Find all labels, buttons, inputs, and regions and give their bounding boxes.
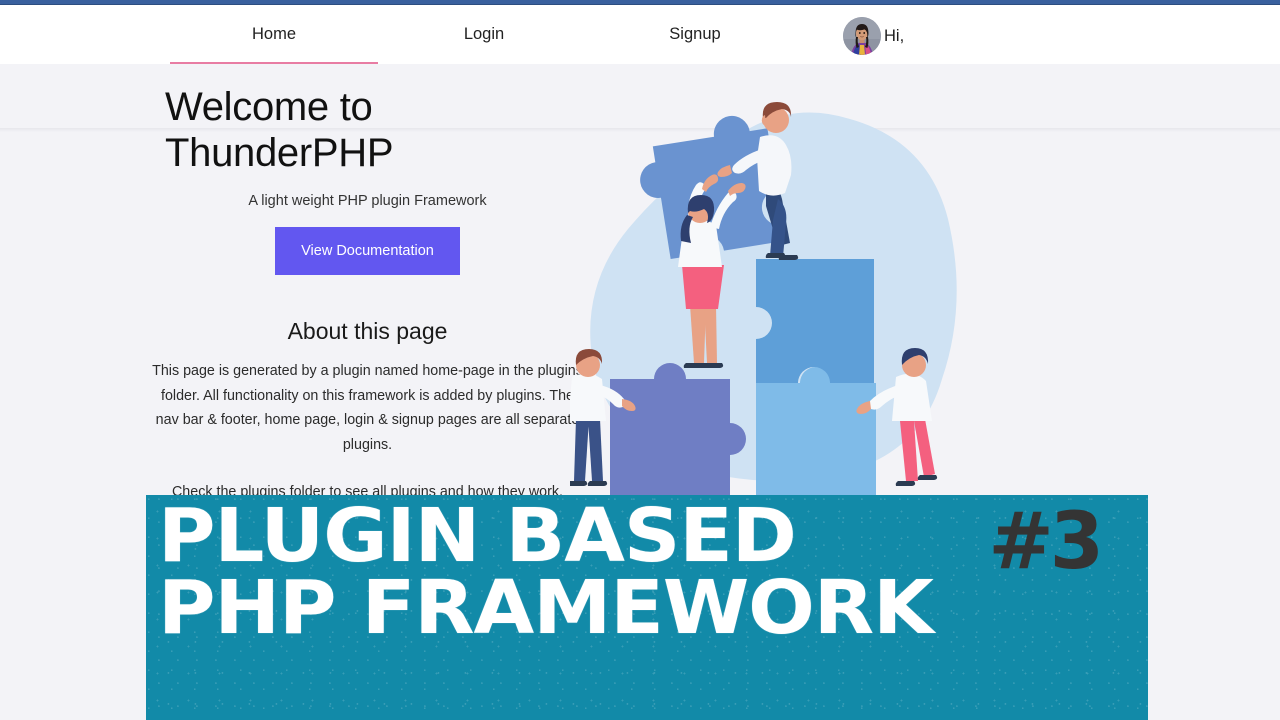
navbar: Home Login Signup	[0, 5, 1280, 64]
avatar	[843, 17, 881, 55]
about-heading: About this page	[145, 318, 590, 345]
hero-column: Welcome to ThunderPHP A light weight PHP…	[145, 84, 590, 545]
puzzle-illustration	[570, 89, 1020, 509]
banner-title: PLUGIN BASED PHP FRAMEWORK	[158, 501, 933, 645]
nav-item-login[interactable]: Login	[380, 5, 588, 64]
puzzle-piece-mid-blue	[756, 259, 874, 383]
nav-user-greeting: Hi,	[884, 27, 904, 46]
page-content: Welcome to ThunderPHP A light weight PHP…	[0, 64, 1280, 720]
nav-item-home-label: Home	[252, 25, 296, 44]
about-paragraph-1: This page is generated by a plugin named…	[145, 359, 590, 458]
episode-banner: PLUGIN BASED PHP FRAMEWORK #3	[146, 495, 1148, 720]
nav-item-signup-label: Signup	[669, 25, 720, 44]
nav-item-signup[interactable]: Signup	[591, 5, 799, 64]
nav-item-home[interactable]: Home	[170, 5, 378, 64]
page-title: Welcome to ThunderPHP	[145, 84, 590, 176]
nav-item-login-label: Login	[464, 25, 504, 44]
view-documentation-button[interactable]: View Documentation	[275, 227, 460, 275]
nav-user-menu[interactable]: Hi,	[843, 17, 904, 55]
hero-subtitle: A light weight PHP plugin Framework	[145, 193, 590, 209]
puzzle-piece-light-blue	[756, 367, 876, 499]
banner-line-1: PLUGIN BASED	[158, 501, 933, 573]
banner-line-2: PHP FRAMEWORK	[158, 573, 933, 645]
puzzle-piece-purple	[610, 363, 746, 499]
banner-episode-number: #3	[988, 503, 1100, 581]
